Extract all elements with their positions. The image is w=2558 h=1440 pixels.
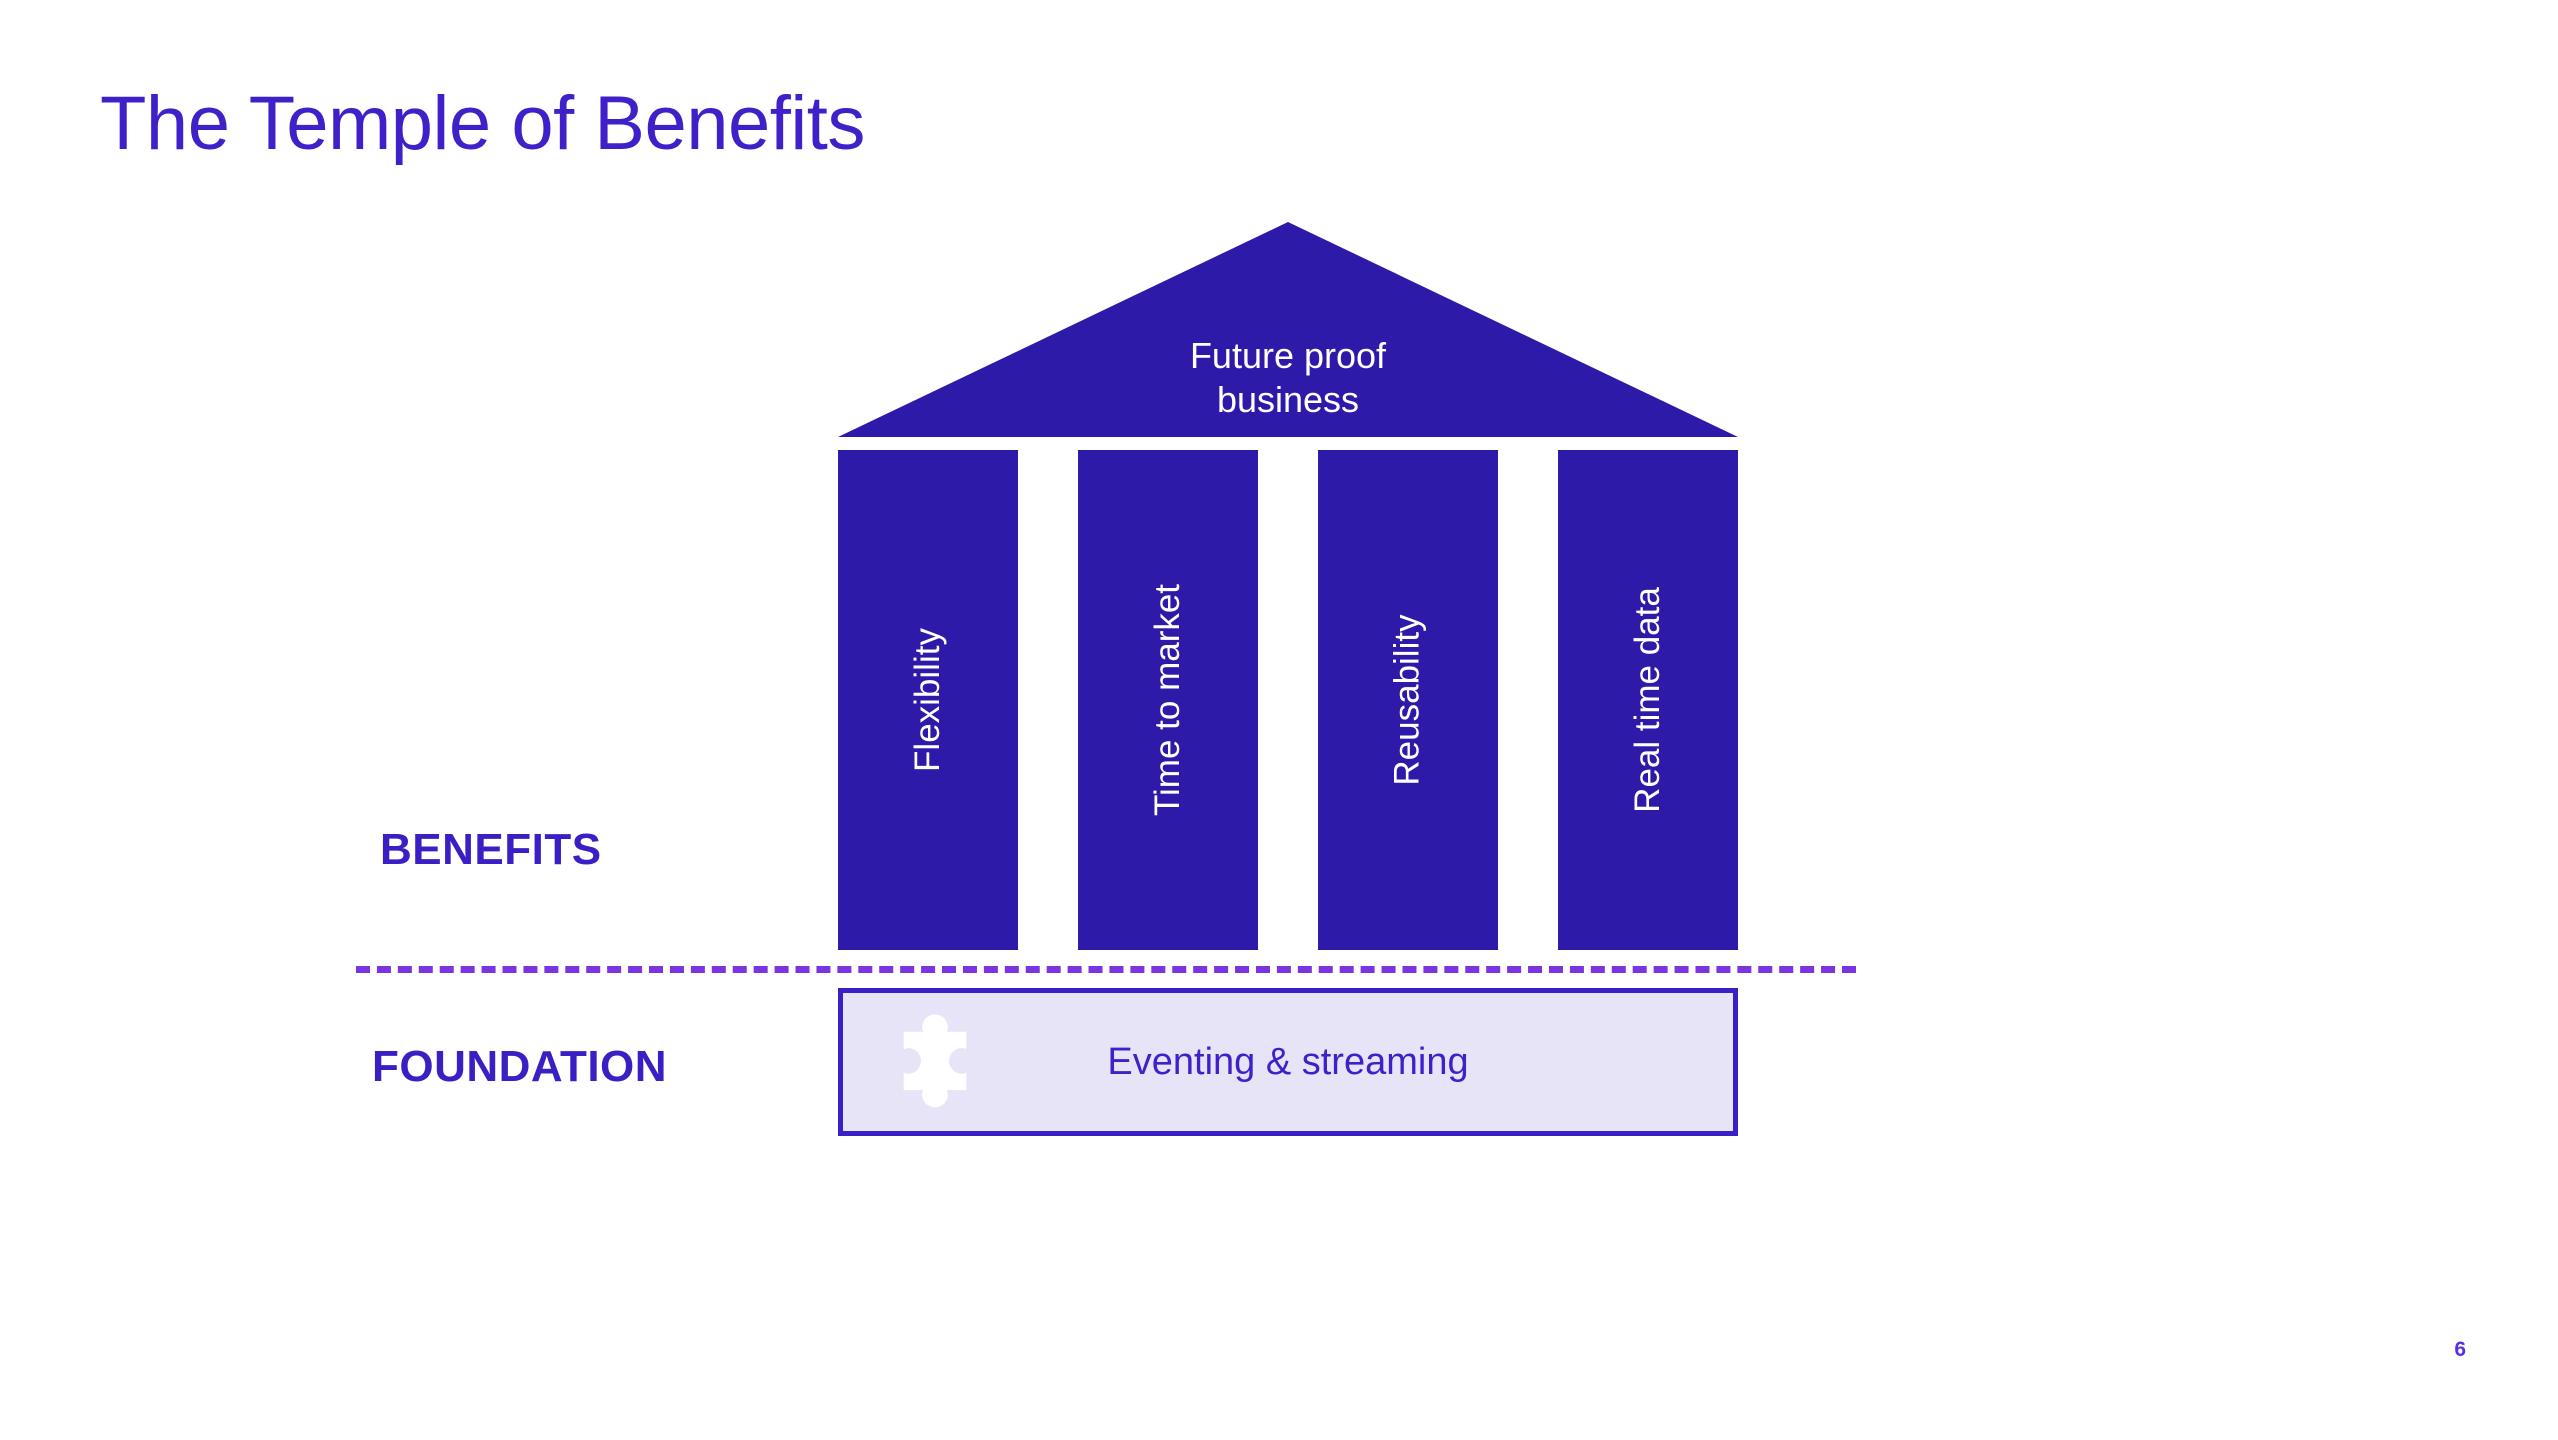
pillar-label: Real time data xyxy=(1628,587,1668,813)
temple-diagram: Future proof business Flexibility Time t… xyxy=(838,222,1738,692)
foundation-bar: Eventing & streaming xyxy=(838,988,1738,1136)
section-label-foundation: FOUNDATION xyxy=(372,1042,667,1092)
roof-label-line-1: Future proof xyxy=(838,334,1738,378)
roof-label-line-2: business xyxy=(838,378,1738,422)
section-divider-dashed-line xyxy=(356,966,1856,973)
roof-label-group: Future proof business xyxy=(838,334,1738,422)
pillar-reusability: Reusability xyxy=(1318,450,1498,950)
puzzle-piece-icon xyxy=(881,1008,989,1116)
pillar-time-to-market: Time to market xyxy=(1078,450,1258,950)
slide-canvas: The Temple of Benefits Future proof busi… xyxy=(0,0,2558,1440)
pillar-flexibility: Flexibility xyxy=(838,450,1018,950)
page-title: The Temple of Benefits xyxy=(100,82,865,166)
temple-roof: Future proof business xyxy=(838,222,1738,437)
foundation-bar-label: Eventing & streaming xyxy=(1107,1041,1468,1084)
pillar-real-time-data: Real time data xyxy=(1558,450,1738,950)
temple-pillars: Flexibility Time to market Reusability R… xyxy=(838,450,1738,950)
pillar-label: Time to market xyxy=(1148,584,1188,816)
pillar-label: Flexibility xyxy=(908,628,948,772)
pillar-label: Reusability xyxy=(1388,614,1428,785)
page-number: 6 xyxy=(2454,1338,2466,1362)
section-label-benefits: BENEFITS xyxy=(380,825,602,875)
